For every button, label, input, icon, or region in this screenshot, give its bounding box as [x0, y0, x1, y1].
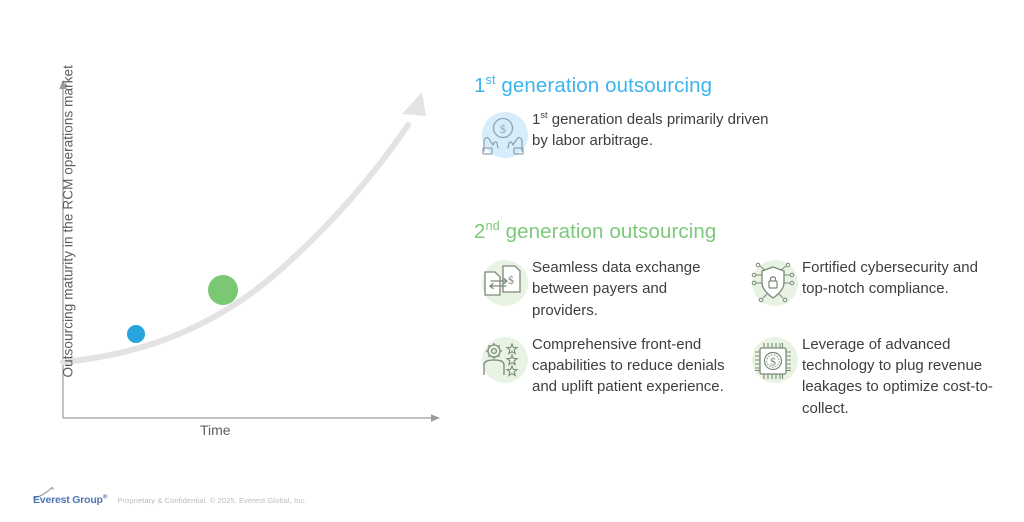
microchip-dollar-glyph: $	[751, 339, 795, 381]
bullet-1-body: generation deals primarily driven by lab…	[532, 111, 769, 149]
bullet-text-front-end-capabilities: Comprehensive front-end capabilities to …	[532, 331, 737, 398]
second-generation-bullets: $ Seamless data exchange between payers …	[474, 254, 1014, 419]
growth-curve	[63, 125, 408, 362]
document-exchange-dollar-icon: $	[474, 254, 532, 312]
section-second-generation: 2nd generation outsourcing $	[474, 220, 1014, 419]
x-axis-arrowhead	[431, 414, 440, 422]
y-axis-label: Outsourcing maturity in the RCM operatio…	[61, 78, 76, 378]
heading-second-generation: 2nd generation outsourcing	[474, 220, 1014, 244]
chart-canvas	[30, 70, 460, 450]
document-exchange-dollar-glyph: $	[481, 262, 525, 304]
bullet-fortified-cybersecurity: Fortified cybersecurity and top-notch co…	[744, 254, 1014, 321]
section-first-generation: 1st generation outsourcing $ 1	[474, 74, 782, 164]
heading-1-rest: generation outsourcing	[496, 74, 713, 97]
heading-1-number: 1	[474, 74, 486, 97]
hands-holding-dollar-glyph: $	[481, 115, 525, 155]
footer-copyright: Proprietary & Confidential. © 2025, Ever…	[117, 496, 306, 506]
bullet-advanced-technology: $ Leverage of advanced technology to plu…	[744, 331, 1014, 419]
growth-curve-arrowhead	[402, 92, 426, 116]
hands-holding-dollar-icon: $	[474, 106, 532, 164]
svg-text:$: $	[500, 122, 506, 136]
bullet-seamless-data-exchange: $ Seamless data exchange between payers …	[474, 254, 744, 321]
heading-1-ordinal: st	[486, 72, 496, 87]
bullet-text-seamless-data-exchange: Seamless data exchange between payers an…	[532, 254, 737, 321]
x-axis-label: Time	[200, 422, 231, 438]
person-gear-stars-glyph	[480, 339, 526, 381]
footer: Everest Group® Proprietary & Confidentia…	[33, 494, 307, 506]
bullet-text-advanced-technology: Leverage of advanced technology to plug …	[802, 331, 1007, 419]
bullet-1-ordinal: st	[540, 110, 547, 120]
svg-text:$: $	[508, 273, 514, 287]
shield-lock-network-icon	[744, 254, 802, 312]
heading-2-number: 2	[474, 220, 486, 243]
bullet-labor-arbitrage: $ 1st generation deals primarily driven …	[474, 106, 782, 164]
bullet-text-labor-arbitrage: 1st generation deals primarily driven by…	[532, 106, 782, 152]
heading-2-rest: generation outsourcing	[500, 220, 717, 243]
person-gear-stars-icon	[474, 331, 532, 389]
svg-text:$: $	[770, 354, 776, 368]
marker-second-generation[interactable]	[208, 275, 238, 305]
bullet-front-end-capabilities: Comprehensive front-end capabilities to …	[474, 331, 744, 419]
everest-group-logo[interactable]: Everest Group®	[33, 494, 107, 506]
logo-registered-mark: ®	[103, 494, 108, 501]
logo-text-label: Everest Group	[33, 494, 103, 506]
slide-root: Outsourcing maturity in the RCM operatio…	[0, 0, 1024, 522]
heading-2-ordinal: nd	[486, 218, 500, 233]
marker-first-generation[interactable]	[127, 325, 145, 343]
shield-lock-network-glyph	[750, 262, 796, 304]
heading-first-generation: 1st generation outsourcing	[474, 74, 782, 98]
bullet-text-fortified-cybersecurity: Fortified cybersecurity and top-notch co…	[802, 254, 1007, 300]
microchip-dollar-icon: $	[744, 331, 802, 389]
logo-wordmark: Everest Group®	[33, 494, 107, 506]
growth-chart: Outsourcing maturity in the RCM operatio…	[30, 70, 460, 450]
